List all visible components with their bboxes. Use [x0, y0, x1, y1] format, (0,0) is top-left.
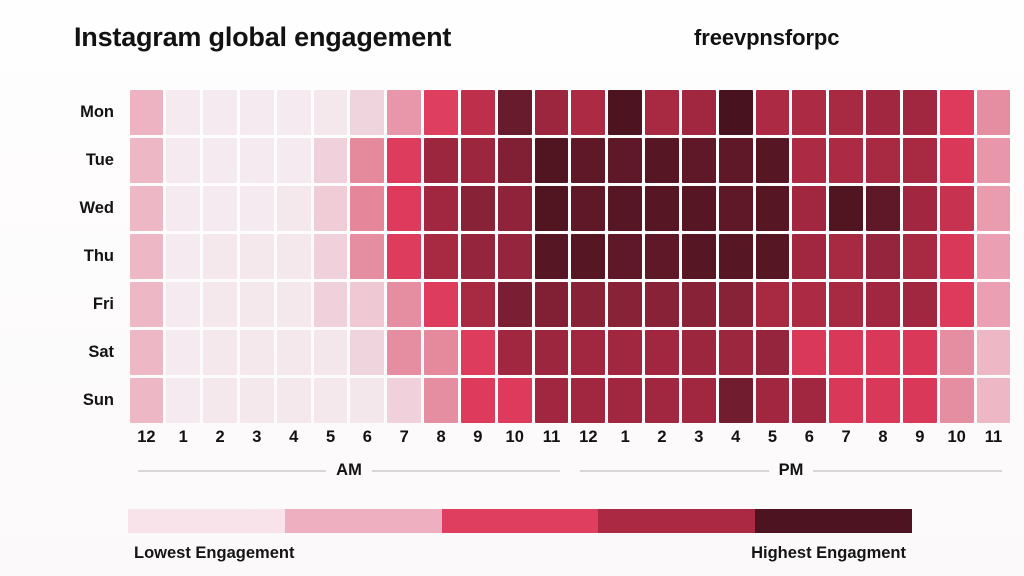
- legend-gradient-bar: [128, 509, 912, 533]
- heatmap-cell[interactable]: [903, 282, 937, 327]
- heatmap-cell[interactable]: [350, 378, 384, 423]
- heatmap-row: Fri: [0, 280, 1024, 328]
- heatmap-cell[interactable]: [240, 282, 274, 327]
- heatmap-cell[interactable]: [535, 186, 569, 231]
- heatmap-cell[interactable]: [977, 234, 1011, 279]
- heatmap-cell[interactable]: [387, 378, 421, 423]
- heatmap-cell[interactable]: [424, 234, 458, 279]
- heatmap-cell[interactable]: [903, 138, 937, 183]
- heatmap-cell[interactable]: [866, 330, 900, 375]
- heatmap-cell[interactable]: [792, 234, 826, 279]
- heatmap-cell[interactable]: [498, 330, 532, 375]
- heatmap-cell[interactable]: [387, 186, 421, 231]
- x-axis-tick: 2: [644, 428, 681, 447]
- heatmap-cell[interactable]: [387, 90, 421, 135]
- x-axis-tick: 3: [238, 428, 275, 447]
- heatmap-row: Wed: [0, 184, 1024, 232]
- heatmap-cell[interactable]: [203, 330, 237, 375]
- x-axis-tick: 6: [791, 428, 828, 447]
- heatmap-cell[interactable]: [645, 186, 679, 231]
- legend-low-label: Lowest Engagement: [134, 544, 294, 563]
- heatmap-cell[interactable]: [166, 282, 200, 327]
- x-axis-tick: 5: [312, 428, 349, 447]
- x-axis-tick: 3: [680, 428, 717, 447]
- heatmap-cell[interactable]: [387, 138, 421, 183]
- heatmap-cell[interactable]: [498, 378, 532, 423]
- heatmap-cell[interactable]: [350, 138, 384, 183]
- heatmap-cell[interactable]: [461, 234, 495, 279]
- heatmap-cell[interactable]: [350, 330, 384, 375]
- heatmap-cell[interactable]: [535, 378, 569, 423]
- heatmap-cell[interactable]: [314, 234, 348, 279]
- heatmap-row-cells: [128, 232, 1024, 280]
- legend-swatch: [442, 509, 599, 533]
- am-bracket-line-left: [138, 470, 326, 472]
- x-axis-spacer: [0, 428, 128, 447]
- heatmap-cell[interactable]: [314, 330, 348, 375]
- heatmap-cell[interactable]: [792, 186, 826, 231]
- watermark-label: freevpnsforpc: [694, 25, 839, 51]
- heatmap-cell[interactable]: [792, 378, 826, 423]
- heatmap-cell[interactable]: [682, 378, 716, 423]
- row-label-sat: Sat: [0, 343, 128, 362]
- x-axis-tick: 8: [865, 428, 902, 447]
- heatmap-row: Thu: [0, 232, 1024, 280]
- heatmap-row: Tue: [0, 136, 1024, 184]
- x-axis-tick: 12: [128, 428, 165, 447]
- heatmap-cell[interactable]: [130, 378, 164, 423]
- heatmap-cell[interactable]: [571, 186, 605, 231]
- heatmap-cell[interactable]: [940, 90, 974, 135]
- x-axis: 121234567891011121234567891011: [0, 428, 1024, 447]
- heatmap-cell[interactable]: [424, 282, 458, 327]
- heatmap-cell[interactable]: [350, 282, 384, 327]
- heatmap-cell[interactable]: [277, 234, 311, 279]
- heatmap-cell[interactable]: [866, 378, 900, 423]
- x-axis-tick: 11: [533, 428, 570, 447]
- heatmap-cell[interactable]: [535, 282, 569, 327]
- pm-bracket: PM: [570, 461, 1012, 480]
- heatmap-cell[interactable]: [314, 282, 348, 327]
- heatmap-cell[interactable]: [719, 90, 753, 135]
- heatmap-cell[interactable]: [940, 234, 974, 279]
- heatmap-cell[interactable]: [977, 378, 1011, 423]
- heatmap-cell[interactable]: [645, 138, 679, 183]
- heatmap-cell[interactable]: [719, 234, 753, 279]
- x-axis-tick: 11: [975, 428, 1012, 447]
- heatmap-cell[interactable]: [240, 234, 274, 279]
- heatmap-cell[interactable]: [166, 234, 200, 279]
- am-bracket: AM: [128, 461, 570, 480]
- heatmap-cell[interactable]: [277, 186, 311, 231]
- heatmap-cell[interactable]: [645, 90, 679, 135]
- x-axis-tick: 10: [938, 428, 975, 447]
- heatmap-cell[interactable]: [829, 330, 863, 375]
- heatmap-cell[interactable]: [756, 138, 790, 183]
- heatmap-cell[interactable]: [940, 378, 974, 423]
- heatmap-cell[interactable]: [240, 186, 274, 231]
- row-label-wed: Wed: [0, 199, 128, 218]
- heatmap-cell[interactable]: [277, 138, 311, 183]
- heatmap-cell[interactable]: [240, 138, 274, 183]
- heatmap-cell[interactable]: [608, 138, 642, 183]
- heatmap-cell[interactable]: [203, 234, 237, 279]
- heatmap-cell[interactable]: [535, 90, 569, 135]
- heatmap-cell[interactable]: [940, 282, 974, 327]
- heatmap-cell[interactable]: [203, 282, 237, 327]
- heatmap-cell[interactable]: [682, 186, 716, 231]
- row-label-tue: Tue: [0, 151, 128, 170]
- heatmap-cell[interactable]: [240, 330, 274, 375]
- heatmap-cell[interactable]: [387, 282, 421, 327]
- heatmap-cell[interactable]: [314, 378, 348, 423]
- heatmap-cell[interactable]: [461, 90, 495, 135]
- heatmap-cell[interactable]: [903, 186, 937, 231]
- heatmap-cell[interactable]: [387, 330, 421, 375]
- heatmap-cell[interactable]: [645, 234, 679, 279]
- heatmap-cell[interactable]: [903, 234, 937, 279]
- heatmap-cell[interactable]: [314, 138, 348, 183]
- heatmap-cell[interactable]: [166, 186, 200, 231]
- heatmap-cell[interactable]: [166, 330, 200, 375]
- heatmap-cell[interactable]: [719, 330, 753, 375]
- heatmap-cell[interactable]: [203, 186, 237, 231]
- x-axis-tick: 12: [570, 428, 607, 447]
- heatmap-cell[interactable]: [756, 330, 790, 375]
- pm-bracket-line-left: [580, 470, 769, 472]
- x-axis-tick: 9: [459, 428, 496, 447]
- heatmap-cell[interactable]: [314, 90, 348, 135]
- heatmap-cell[interactable]: [461, 138, 495, 183]
- x-axis-tick: 4: [717, 428, 754, 447]
- heatmap-cell[interactable]: [682, 90, 716, 135]
- heatmap-cell[interactable]: [977, 186, 1011, 231]
- heatmap-cell[interactable]: [535, 138, 569, 183]
- heatmap-cell[interactable]: [719, 186, 753, 231]
- heatmap-cell[interactable]: [166, 138, 200, 183]
- heatmap-cell[interactable]: [130, 90, 164, 135]
- heatmap-cell[interactable]: [203, 378, 237, 423]
- heatmap-cell[interactable]: [535, 234, 569, 279]
- heatmap-cell[interactable]: [829, 282, 863, 327]
- heatmap-cell[interactable]: [203, 138, 237, 183]
- heatmap-cell[interactable]: [130, 138, 164, 183]
- heatmap-row-cells: [128, 376, 1024, 424]
- heatmap-cell[interactable]: [350, 90, 384, 135]
- heatmap-cell[interactable]: [792, 138, 826, 183]
- am-label: AM: [336, 461, 362, 480]
- heatmap-cell[interactable]: [866, 282, 900, 327]
- x-axis-tick: 10: [496, 428, 533, 447]
- heatmap-cell[interactable]: [682, 282, 716, 327]
- heatmap-cell[interactable]: [903, 90, 937, 135]
- x-axis-tick: 8: [423, 428, 460, 447]
- heatmap-cell[interactable]: [829, 138, 863, 183]
- heatmap-cell[interactable]: [571, 90, 605, 135]
- pm-bracket-line-right: [813, 470, 1002, 472]
- heatmap-cell[interactable]: [940, 186, 974, 231]
- heatmap-cell[interactable]: [829, 234, 863, 279]
- heatmap-cell[interactable]: [240, 378, 274, 423]
- heatmap-cell[interactable]: [571, 330, 605, 375]
- heatmap-cell[interactable]: [682, 330, 716, 375]
- engagement-heatmap: MonTueWedThuFriSatSun 121234567891011121…: [0, 88, 1024, 480]
- header: Instagram global engagement freevpnsforp…: [0, 22, 1024, 70]
- heatmap-cell[interactable]: [756, 90, 790, 135]
- heatmap-cell[interactable]: [608, 186, 642, 231]
- heatmap-cell[interactable]: [424, 378, 458, 423]
- heatmap-cell[interactable]: [792, 282, 826, 327]
- heatmap-cell[interactable]: [461, 186, 495, 231]
- color-legend: Lowest Engagement Highest Engagment: [128, 509, 912, 563]
- heatmap-cell[interactable]: [608, 330, 642, 375]
- heatmap-row: Mon: [0, 88, 1024, 136]
- heatmap-cell[interactable]: [645, 330, 679, 375]
- brackets-inner: AM PM: [128, 461, 1024, 480]
- heatmap-infographic: Instagram global engagement freevpnsforp…: [0, 0, 1024, 576]
- heatmap-cell[interactable]: [498, 282, 532, 327]
- x-axis-labels: 121234567891011121234567891011: [128, 428, 1024, 447]
- row-label-fri: Fri: [0, 295, 128, 314]
- heatmap-row-cells: [128, 328, 1024, 376]
- heatmap-cell[interactable]: [277, 330, 311, 375]
- heatmap-cell[interactable]: [498, 186, 532, 231]
- x-axis-tick: 1: [165, 428, 202, 447]
- heatmap-cell[interactable]: [571, 378, 605, 423]
- heatmap-cell[interactable]: [498, 138, 532, 183]
- heatmap-cell[interactable]: [829, 90, 863, 135]
- ampm-brackets: AM PM: [0, 461, 1024, 480]
- heatmap-cell[interactable]: [608, 378, 642, 423]
- heatmap-cell[interactable]: [682, 234, 716, 279]
- heatmap-cell[interactable]: [461, 378, 495, 423]
- heatmap-cell[interactable]: [940, 138, 974, 183]
- am-bracket-line-right: [372, 470, 560, 472]
- heatmap-row: Sat: [0, 328, 1024, 376]
- heatmap-cell[interactable]: [424, 330, 458, 375]
- heatmap-cell[interactable]: [166, 90, 200, 135]
- x-axis-tick: 1: [607, 428, 644, 447]
- pm-label: PM: [779, 461, 804, 480]
- legend-swatch: [755, 509, 912, 533]
- heatmap-cell[interactable]: [277, 282, 311, 327]
- heatmap-cell[interactable]: [461, 330, 495, 375]
- heatmap-cell[interactable]: [166, 378, 200, 423]
- heatmap-cell[interactable]: [756, 234, 790, 279]
- heatmap-cell[interactable]: [792, 330, 826, 375]
- heatmap-cell[interactable]: [866, 90, 900, 135]
- heatmap-cell[interactable]: [682, 138, 716, 183]
- heatmap-cell[interactable]: [350, 234, 384, 279]
- heatmap-cell[interactable]: [977, 282, 1011, 327]
- legend-swatch: [598, 509, 755, 533]
- row-label-mon: Mon: [0, 103, 128, 122]
- heatmap-cell[interactable]: [977, 90, 1011, 135]
- heatmap-row: Sun: [0, 376, 1024, 424]
- heatmap-cell[interactable]: [608, 234, 642, 279]
- heatmap-cell[interactable]: [719, 282, 753, 327]
- heatmap-cell[interactable]: [608, 90, 642, 135]
- heatmap-cell[interactable]: [977, 138, 1011, 183]
- heatmap-cell[interactable]: [829, 378, 863, 423]
- heatmap-cell[interactable]: [977, 330, 1011, 375]
- heatmap-cell[interactable]: [424, 138, 458, 183]
- heatmap-cell[interactable]: [645, 282, 679, 327]
- x-axis-tick: 5: [754, 428, 791, 447]
- heatmap-cell[interactable]: [940, 330, 974, 375]
- heatmap-cell[interactable]: [829, 186, 863, 231]
- heatmap-cell[interactable]: [866, 186, 900, 231]
- heatmap-grid: MonTueWedThuFriSatSun: [0, 88, 1024, 424]
- heatmap-cell[interactable]: [424, 186, 458, 231]
- heatmap-row-cells: [128, 184, 1024, 232]
- heatmap-cell[interactable]: [314, 186, 348, 231]
- heatmap-cell[interactable]: [608, 282, 642, 327]
- heatmap-cell[interactable]: [903, 378, 937, 423]
- legend-swatch: [128, 509, 285, 533]
- heatmap-cell[interactable]: [424, 90, 458, 135]
- heatmap-cell[interactable]: [903, 330, 937, 375]
- heatmap-cell[interactable]: [203, 90, 237, 135]
- heatmap-cell[interactable]: [130, 234, 164, 279]
- heatmap-cell[interactable]: [387, 234, 421, 279]
- heatmap-cell[interactable]: [240, 90, 274, 135]
- heatmap-cell[interactable]: [756, 378, 790, 423]
- heatmap-cell[interactable]: [866, 234, 900, 279]
- x-axis-tick: 7: [828, 428, 865, 447]
- heatmap-cell[interactable]: [498, 90, 532, 135]
- heatmap-cell[interactable]: [719, 138, 753, 183]
- row-label-thu: Thu: [0, 247, 128, 266]
- heatmap-cell[interactable]: [130, 282, 164, 327]
- heatmap-cell[interactable]: [571, 282, 605, 327]
- heatmap-row-cells: [128, 280, 1024, 328]
- heatmap-cell[interactable]: [756, 186, 790, 231]
- page-title: Instagram global engagement: [74, 22, 451, 53]
- heatmap-cell[interactable]: [277, 90, 311, 135]
- heatmap-cell[interactable]: [130, 186, 164, 231]
- heatmap-cell[interactable]: [645, 378, 679, 423]
- heatmap-cell[interactable]: [571, 138, 605, 183]
- heatmap-row-cells: [128, 136, 1024, 184]
- legend-swatch: [285, 509, 442, 533]
- legend-high-label: Highest Engagment: [751, 544, 906, 563]
- x-axis-tick: 7: [386, 428, 423, 447]
- legend-labels: Lowest Engagement Highest Engagment: [128, 544, 912, 563]
- heatmap-cell[interactable]: [535, 330, 569, 375]
- heatmap-cell[interactable]: [130, 330, 164, 375]
- row-label-sun: Sun: [0, 391, 128, 410]
- heatmap-cell[interactable]: [866, 138, 900, 183]
- heatmap-cell[interactable]: [498, 234, 532, 279]
- x-axis-tick: 2: [202, 428, 239, 447]
- x-axis-tick: 4: [275, 428, 312, 447]
- brackets-spacer: [0, 461, 128, 480]
- heatmap-cell[interactable]: [277, 378, 311, 423]
- heatmap-cell[interactable]: [756, 282, 790, 327]
- x-axis-tick: 6: [349, 428, 386, 447]
- heatmap-row-cells: [128, 88, 1024, 136]
- heatmap-cell[interactable]: [461, 282, 495, 327]
- heatmap-cell[interactable]: [571, 234, 605, 279]
- x-axis-tick: 9: [901, 428, 938, 447]
- heatmap-cell[interactable]: [350, 186, 384, 231]
- heatmap-cell[interactable]: [792, 90, 826, 135]
- heatmap-cell[interactable]: [719, 378, 753, 423]
